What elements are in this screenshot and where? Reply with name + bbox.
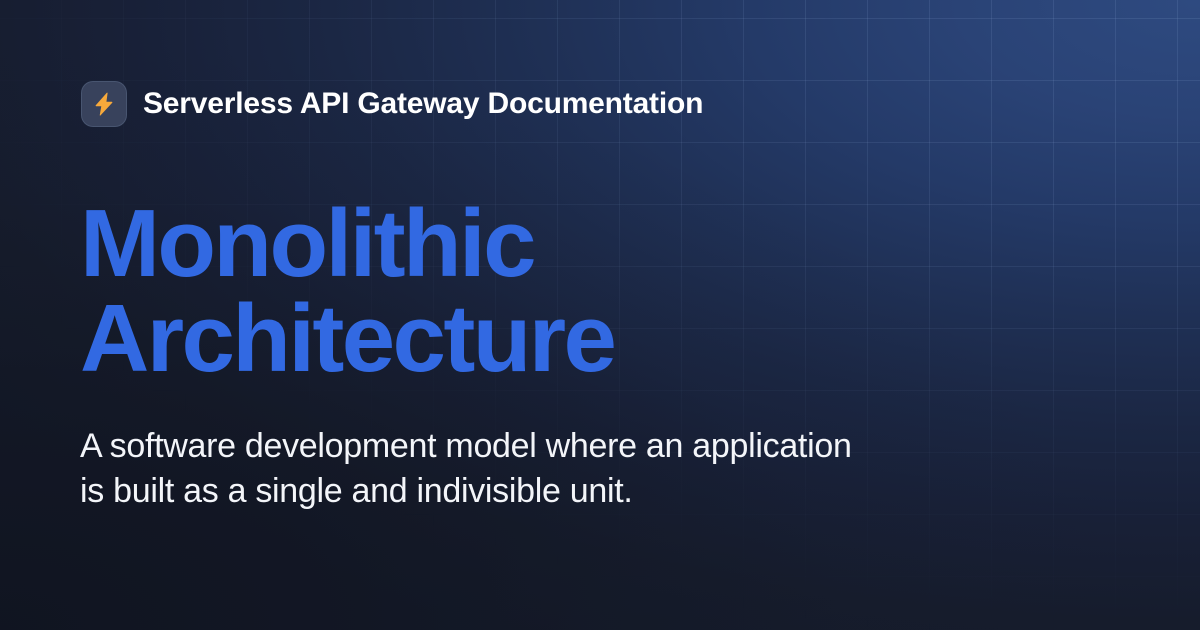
brand-header: Serverless API Gateway Documentation (81, 81, 703, 127)
page-title: Monolithic Architecture (80, 196, 880, 386)
page-description: A software development model where an ap… (80, 424, 870, 514)
lightning-bolt-icon (91, 91, 117, 117)
card-content: Serverless API Gateway Documentation Mon… (0, 0, 1200, 630)
og-social-card: Serverless API Gateway Documentation Mon… (0, 0, 1200, 630)
brand-title: Serverless API Gateway Documentation (143, 81, 703, 127)
brand-logo-badge (81, 81, 127, 127)
